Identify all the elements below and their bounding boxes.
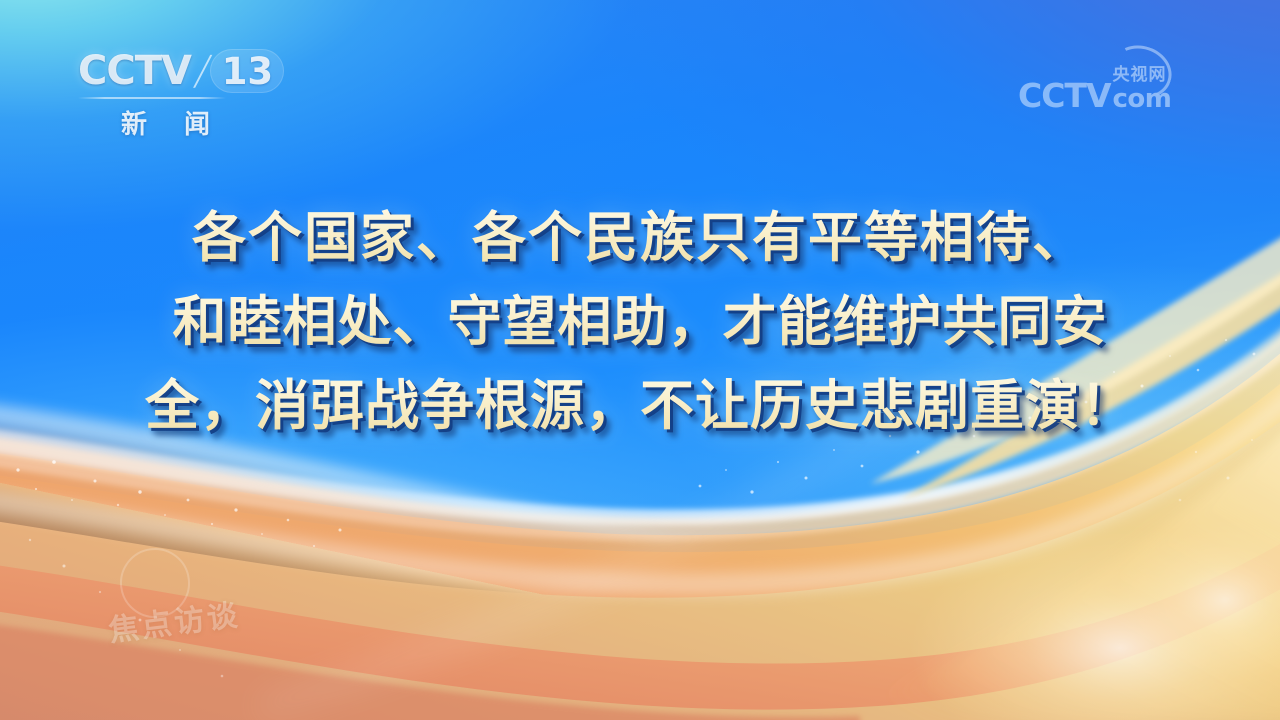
quote-line-1: 各个国家、各个民族只有平等相待、 [120, 196, 1160, 280]
cctv13-logo-row: CCTV / 13 [78, 48, 278, 94]
cctv13-channel-logo: CCTV / 13 新 闻 [78, 48, 278, 140]
channel-subtitle: 新 闻 [78, 104, 253, 141]
channel-number-capsule: 13 [210, 49, 284, 93]
cctv-com-tld: com [1113, 86, 1172, 112]
quote-line-2: 和睦相处、守望相助，才能维护共同安 [120, 280, 1160, 364]
quote-text-block: 各个国家、各个民族只有平等相待、 和睦相处、守望相助，才能维护共同安 全，消弭战… [0, 196, 1280, 448]
cctv-com-watermark: CCTV 央视网 com [1018, 50, 1208, 112]
broadcast-quote-card: CCTV / 13 新 闻 CCTV 央视网 com 各个国家、各个民族只有平等… [0, 0, 1280, 720]
cctv-com-right-stack: 央视网 com [1113, 67, 1172, 112]
cctv-com-chinese-label: 央视网 [1113, 67, 1167, 85]
cctv-com-brand: CCTV [1018, 79, 1111, 112]
cctv-wordmark: CCTV [78, 51, 191, 91]
channel-number: 13 [222, 53, 274, 90]
logo-underline-rule [78, 97, 226, 99]
quote-line-3: 全，消弭战争根源，不让历史悲剧重演！ [120, 364, 1160, 448]
